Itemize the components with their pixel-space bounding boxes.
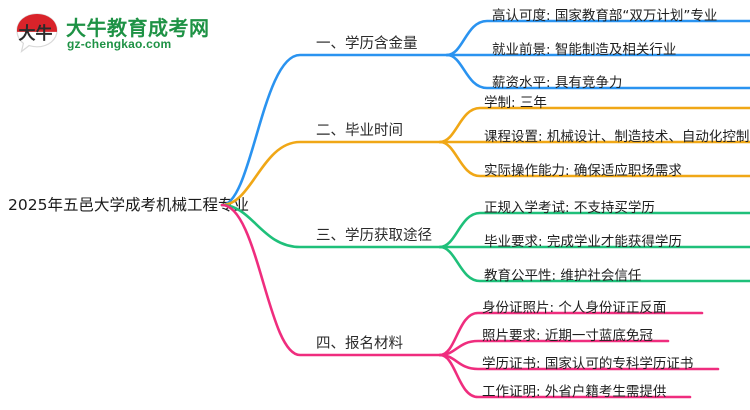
branch-4-item-3[interactable]: 学历证书: 国家认可的专科学历证书 <box>482 352 693 372</box>
branch-4-item-4[interactable]: 工作证明: 外省户籍考生需提供 <box>482 380 666 400</box>
branch-4-item-1[interactable]: 身份证照片: 个人身份证正反面 <box>482 296 666 316</box>
branch-2-item-2[interactable]: 课程设置: 机械设计、制造技术、自动化控制 <box>484 125 749 145</box>
branch-3-item-1[interactable]: 正规入学考试: 不支持买学历 <box>484 196 655 216</box>
branch-label-4[interactable]: 四、报名材料 <box>316 332 403 353</box>
branch-label-2[interactable]: 二、毕业时间 <box>316 119 403 140</box>
branch-3-item-3[interactable]: 教育公平性: 维护社会信任 <box>484 264 641 284</box>
branch-2-item-1[interactable]: 学制: 三年 <box>484 91 547 111</box>
branch-label-3[interactable]: 三、学历获取途径 <box>316 224 432 245</box>
branch-1-item-1[interactable]: 高认可度: 国家教育部“双万计划”专业 <box>492 4 717 24</box>
branch-2-spine <box>222 142 440 205</box>
branch-2-wires <box>222 108 750 205</box>
branch-4-item-2[interactable]: 照片要求: 近期一寸蓝底免冠 <box>482 324 653 344</box>
branch-2-item-3[interactable]: 实际操作能力: 确保适应职场需求 <box>484 159 682 179</box>
branch-3-item-2[interactable]: 毕业要求: 完成学业才能获得学历 <box>484 230 682 250</box>
branch-1-item-2[interactable]: 就业前景: 智能制造及相关行业 <box>492 38 676 58</box>
branch-1-item-3[interactable]: 薪资水平: 具有竞争力 <box>492 71 622 91</box>
branch-label-1[interactable]: 一、学历含金量 <box>316 32 418 53</box>
mindmap-canvas: 大牛 大牛教育成考网 gz-chengkao.com 2025年五邑大学成考机械… <box>0 0 750 410</box>
